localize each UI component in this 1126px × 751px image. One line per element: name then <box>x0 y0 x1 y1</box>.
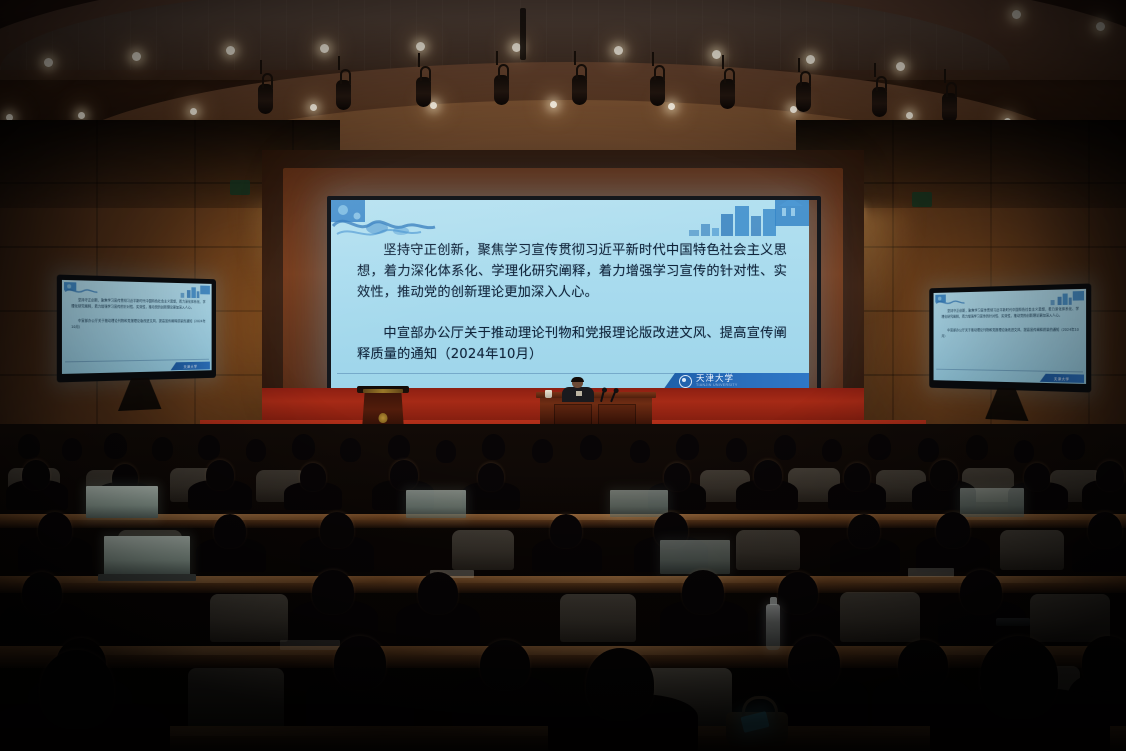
university-name-cn: 天津大学 <box>696 375 738 384</box>
recessed-downlight <box>806 55 815 64</box>
left-monitor-text: 坚持守正创新，聚焦学习宣传贯彻习近平新时代中国特色社会主义思想，着力深化体系化、… <box>71 297 205 331</box>
left-monitor-divider <box>65 359 209 363</box>
ceiling-panel-slats <box>0 0 1010 70</box>
podium-emblem-icon <box>379 413 388 423</box>
attendee-head <box>936 512 970 548</box>
stage-spotlight <box>258 84 273 114</box>
ceiling-vent <box>520 8 526 60</box>
attendee-head <box>898 640 948 690</box>
recessed-downlight <box>430 102 437 109</box>
recessed-downlight <box>906 112 913 119</box>
attendee-head <box>1088 512 1122 548</box>
attendee-head <box>1082 636 1126 690</box>
remote-control <box>996 618 1030 626</box>
attendee-head <box>754 460 782 490</box>
attendee-head <box>930 460 958 490</box>
attendee-head <box>312 570 354 614</box>
attendee-head <box>960 570 1002 614</box>
right-monitor-paragraph-2: 中宣部办公厅关于推动理论刊物和党报理论版改进文风、提高宣传阐释质量的通知（202… <box>941 326 1078 339</box>
slide-surface: 坚持守正创新，聚焦学习宣传贯彻习近平新时代中国特色社会主义思想，着力深化体系化、… <box>331 200 809 390</box>
auditorium-seat <box>188 668 284 728</box>
auditorium-seat <box>736 530 800 570</box>
desk-surface <box>536 392 656 398</box>
right-monitor-paragraph-1: 坚持守正创新，聚焦学习宣传贯彻习近平新时代中国特色社会主义思想，着力深化体系化、… <box>941 306 1078 321</box>
attendee-head <box>778 572 818 614</box>
presenter-badge <box>576 391 582 396</box>
stage-spotlight <box>650 76 665 106</box>
stage-spotlight <box>796 82 811 112</box>
stage-spotlight <box>720 79 735 109</box>
attendee-head <box>478 463 504 491</box>
attendee-head <box>848 514 880 548</box>
slide-body-text: 坚持守正创新，聚焦学习宣传贯彻习近平新时代中国特色社会主义思想，着力深化体系化、… <box>357 240 787 365</box>
attendee-head <box>1096 461 1124 491</box>
right-wall-monitor: 坚持守正创新，聚焦学习宣传贯彻习近平新时代中国特色社会主义思想，着力深化体系化、… <box>929 283 1091 392</box>
attendee-head <box>320 512 354 548</box>
recessed-downlight <box>896 62 905 71</box>
attendee-head <box>334 636 386 690</box>
attendee-head <box>664 463 690 491</box>
wall-speaker-box <box>230 180 250 195</box>
attendee-head <box>40 650 114 728</box>
podium-nameplate <box>363 389 403 393</box>
desk-front-panel <box>598 404 636 426</box>
left-wall-monitor: 坚持守正创新，聚焦学习宣传贯彻习近平新时代中国特色社会主义思想，着力深化体系化、… <box>57 275 216 383</box>
attendee-head <box>214 514 246 548</box>
podium-top <box>357 386 409 393</box>
attendee-head <box>38 512 72 548</box>
right-monitor-screen: 坚持守正创新，聚焦学习宣传贯彻习近平新时代中国特色社会主义思想，着力深化体系化、… <box>934 289 1087 384</box>
slide-paragraph-2: 中宣部办公厅关于推动理论刊物和党报理论版改进文风、提高宣传阐释质量的通知（202… <box>357 323 787 365</box>
slide-decoration-top-left-icon <box>331 200 451 244</box>
attendee-head <box>480 640 530 690</box>
drinking-cup <box>545 390 552 398</box>
ceiling-panel <box>0 0 1010 70</box>
auditorium-seat <box>452 530 514 570</box>
recessed-downlight <box>226 46 235 55</box>
recessed-downlight <box>712 50 721 59</box>
recessed-downlight <box>310 104 317 111</box>
left-monitor-logo: 天津大学 <box>171 362 210 371</box>
recessed-downlight <box>320 44 329 53</box>
left-monitor-paragraph-1: 坚持守正创新，聚焦学习宣传贯彻习近平新时代中国特色社会主义思想，着力深化体系化、… <box>71 297 205 312</box>
left-monitor-logo-label: 天津大学 <box>184 363 198 368</box>
recessed-downlight <box>190 108 197 115</box>
monitor-decoration-right-icon <box>1046 291 1084 306</box>
attendee-head <box>418 572 458 614</box>
presenter-hair <box>571 377 584 382</box>
attendee-head <box>300 463 326 491</box>
right-monitor-logo-label: 天津大学 <box>1054 375 1070 381</box>
attendee-head <box>682 570 724 614</box>
monitor-decoration-right-icon <box>176 285 210 299</box>
attendee-head <box>22 572 62 614</box>
audience-area <box>0 424 1126 751</box>
recessed-downlight <box>1096 22 1105 31</box>
attendee-head <box>550 514 582 548</box>
right-monitor-logo: 天津大学 <box>1040 374 1084 383</box>
seat-row-2-heads <box>0 454 1126 508</box>
recessed-downlight <box>550 101 557 108</box>
recessed-downlight <box>416 42 425 51</box>
recessed-downlight <box>668 103 675 110</box>
recessed-downlight <box>614 46 623 55</box>
attendee-head <box>844 463 870 491</box>
stage-spotlight <box>872 87 887 117</box>
attendee-head <box>206 460 234 490</box>
seat-row-4-heads <box>0 566 1126 642</box>
main-projection-screen: 坚持守正创新，聚焦学习宣传贯彻习近平新时代中国特色社会主义思想，着力深化体系化、… <box>331 200 809 390</box>
stage-spotlight <box>494 75 509 105</box>
recessed-downlight <box>44 58 53 67</box>
recessed-downlight <box>1012 10 1021 19</box>
attendee-head <box>22 460 50 490</box>
stage-spotlight <box>416 77 431 107</box>
attendee-head <box>586 648 654 720</box>
attendee-head <box>980 636 1058 718</box>
university-emblem-icon <box>679 375 692 388</box>
right-monitor-text: 坚持守正创新，聚焦学习宣传贯彻习近平新时代中国特色社会主义思想，着力深化体系化、… <box>941 306 1078 340</box>
recessed-downlight <box>78 112 85 119</box>
recessed-downlight <box>132 52 141 61</box>
lecture-hall-scene: 坚持守正创新，聚焦学习宣传贯彻习近平新时代中国特色社会主义思想，着力深化体系化、… <box>0 0 1126 751</box>
auditorium-seat <box>1000 530 1064 570</box>
left-monitor-paragraph-2: 中宣部办公厅关于推动理论刊物和党报理论版改进文风、提高宣传阐释质量的通知（202… <box>71 317 205 330</box>
attendee-head <box>1024 463 1050 491</box>
stage-spotlight <box>942 93 957 123</box>
attendee-head <box>390 460 418 490</box>
wall-speaker-box <box>912 192 932 207</box>
monitor-decoration-left-icon <box>64 282 98 296</box>
stage-spotlight <box>572 75 587 105</box>
seated-presenter <box>560 378 596 400</box>
monitor-decoration-left-icon <box>935 294 965 307</box>
slide-paragraph-1: 坚持守正创新，聚焦学习宣传贯彻习近平新时代中国特色社会主义思想，着力深化体系化、… <box>357 240 787 303</box>
stage-spotlight <box>336 80 351 110</box>
left-monitor-screen: 坚持守正创新，聚焦学习宣传贯彻习近平新时代中国特色社会主义思想，着力深化体系化、… <box>62 280 212 374</box>
attendee-head <box>788 636 840 690</box>
desk-front-panel <box>554 404 592 426</box>
right-monitor-divider <box>936 369 1083 373</box>
